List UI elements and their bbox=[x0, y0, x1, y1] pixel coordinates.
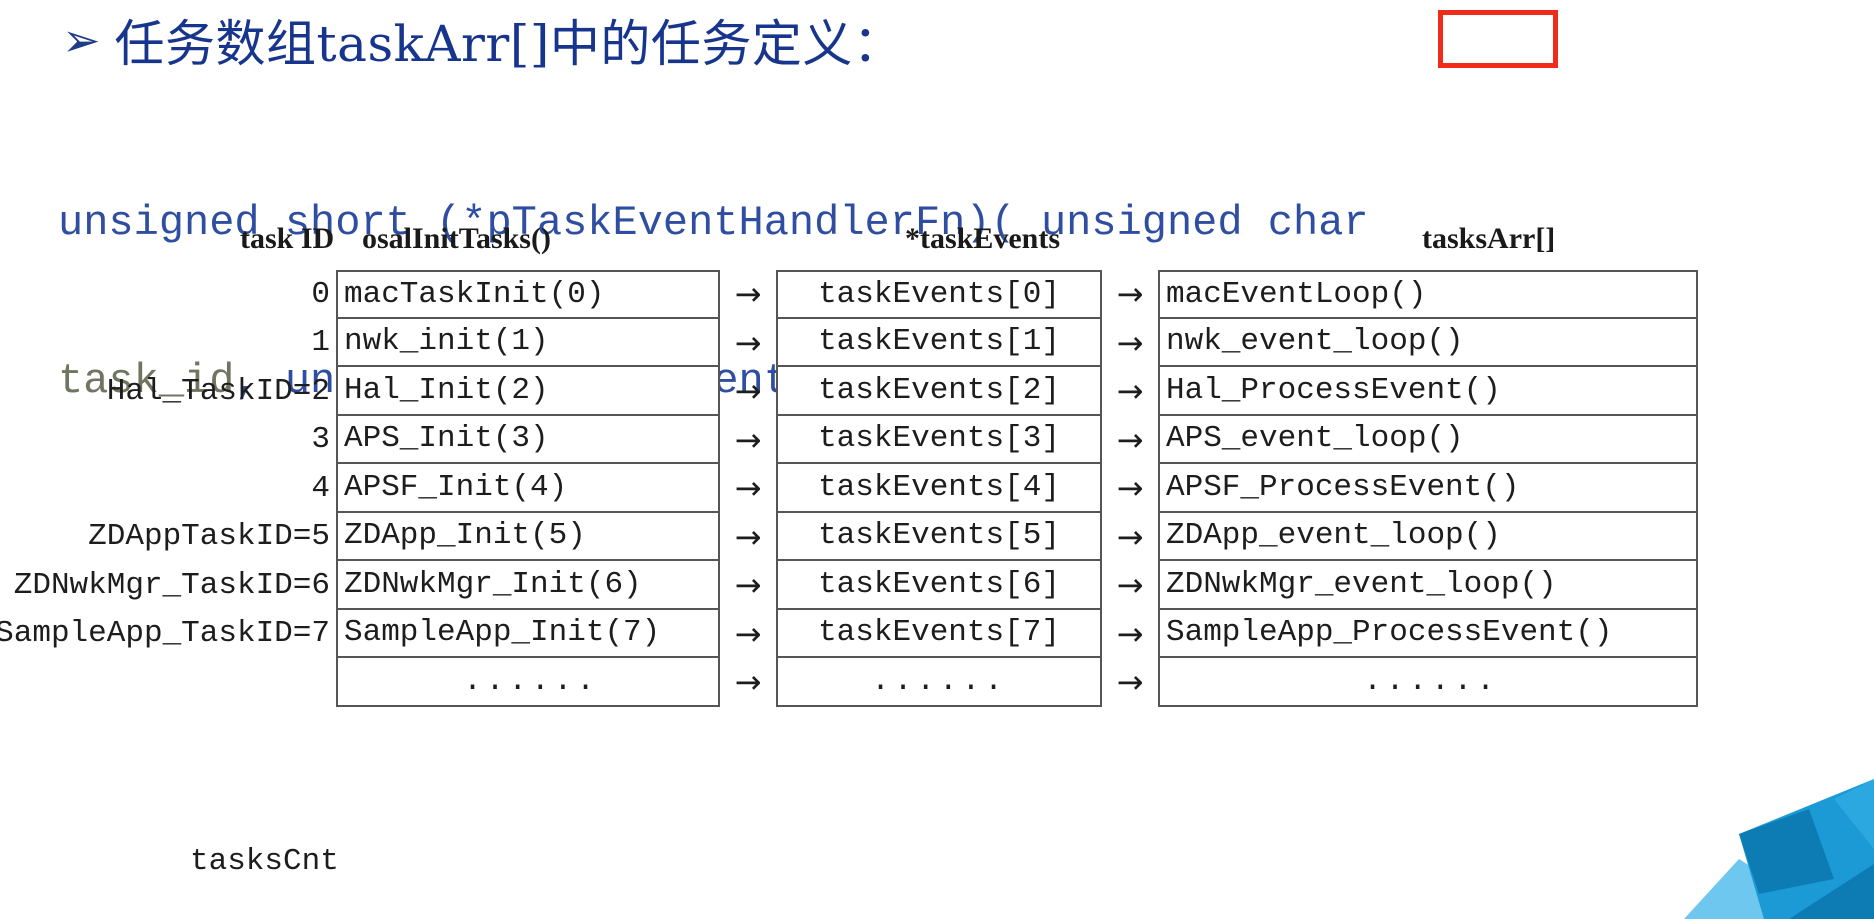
handler-function-cell: ZDApp_event_loop() bbox=[1158, 513, 1698, 562]
decor-shape-5 bbox=[1789, 864, 1874, 919]
arrow-icon: → bbox=[720, 513, 776, 562]
handler-function-text: SampleApp_ProcessEvent() bbox=[1166, 615, 1612, 650]
init-function-text: Hal_Init(2) bbox=[344, 373, 549, 408]
task-events-text: taskEvents[2] bbox=[818, 373, 1060, 408]
task-events-text: taskEvents[7] bbox=[818, 615, 1060, 650]
arrow-icon: → bbox=[1102, 658, 1158, 707]
init-function-text: APS_Init(3) bbox=[344, 421, 549, 456]
handler-function-text: Hal_ProcessEvent() bbox=[1166, 373, 1501, 408]
arrow-icon: → bbox=[1102, 464, 1158, 513]
handler-function-cell: ZDNwkMgr_event_loop() bbox=[1158, 561, 1698, 610]
init-function-text: ...... bbox=[344, 664, 718, 699]
arrow-icon: → bbox=[1102, 610, 1158, 659]
header-task-events: *taskEvents bbox=[905, 222, 1060, 256]
arrow-icon: → bbox=[720, 464, 776, 513]
init-function-cell: ZDNwkMgr_Init(6) bbox=[336, 561, 720, 610]
init-function-cell: APS_Init(3) bbox=[336, 416, 720, 465]
task-events-cell: taskEvents[4] bbox=[776, 464, 1102, 513]
table-row: ......→......→...... bbox=[0, 658, 1874, 707]
init-function-text: SampleApp_Init(7) bbox=[344, 615, 660, 650]
task-events-text: taskEvents[3] bbox=[818, 421, 1060, 456]
task-id-label: ZDAppTaskID=5 bbox=[0, 513, 336, 562]
handler-function-cell: macEventLoop() bbox=[1158, 270, 1698, 319]
header-task-id: task ID bbox=[240, 222, 334, 256]
init-function-cell: ...... bbox=[336, 658, 720, 707]
arrow-icon: → bbox=[720, 610, 776, 659]
handler-function-text: ZDNwkMgr_event_loop() bbox=[1166, 567, 1557, 602]
table-row: 3APS_Init(3)→taskEvents[3]→APS_event_loo… bbox=[0, 416, 1874, 465]
arrow-icon: → bbox=[1102, 319, 1158, 368]
handler-function-cell: nwk_event_loop() bbox=[1158, 319, 1698, 368]
arrow-icon: → bbox=[720, 367, 776, 416]
task-events-cell: taskEvents[7] bbox=[776, 610, 1102, 659]
handler-function-text: APS_event_loop() bbox=[1166, 421, 1464, 456]
init-function-cell: Hal_Init(2) bbox=[336, 367, 720, 416]
table-row: SampleApp_TaskID=7SampleApp_Init(7)→task… bbox=[0, 610, 1874, 659]
task-id-label: 3 bbox=[0, 416, 336, 465]
task-events-text: taskEvents[6] bbox=[818, 567, 1060, 602]
handler-function-text: macEventLoop() bbox=[1166, 277, 1426, 312]
task-events-cell: taskEvents[2] bbox=[776, 367, 1102, 416]
init-function-text: ZDNwkMgr_Init(6) bbox=[344, 567, 642, 602]
init-function-cell: nwk_init(1) bbox=[336, 319, 720, 368]
task-events-cell: taskEvents[3] bbox=[776, 416, 1102, 465]
init-function-cell: APSF_Init(4) bbox=[336, 464, 720, 513]
page-title: 任务数组taskArr[]中的任务定义： bbox=[115, 4, 904, 76]
decor-shape-1 bbox=[1684, 859, 1834, 919]
table-row: Hal_TaskID=2Hal_Init(2)→taskEvents[2]→Ha… bbox=[0, 367, 1874, 416]
init-function-cell: macTaskInit(0) bbox=[336, 270, 720, 319]
task-rows: 0macTaskInit(0)→taskEvents[0]→macEventLo… bbox=[0, 270, 1874, 707]
task-id-label: 1 bbox=[0, 319, 336, 368]
task-id-label bbox=[0, 658, 336, 707]
task-events-cell: taskEvents[0] bbox=[776, 270, 1102, 319]
init-function-text: ZDApp_Init(5) bbox=[344, 518, 586, 553]
arrow-icon: → bbox=[1102, 513, 1158, 562]
task-events-text: taskEvents[5] bbox=[818, 518, 1060, 553]
decor-shape-2 bbox=[1739, 779, 1874, 919]
task-events-text: taskEvents[1] bbox=[818, 324, 1060, 359]
column-headers: task ID osalInitTasks() *taskEvents task… bbox=[0, 222, 1874, 268]
arrow-icon: → bbox=[720, 658, 776, 707]
handler-function-text: ...... bbox=[1166, 664, 1696, 699]
arrow-icon: → bbox=[720, 416, 776, 465]
handler-function-text: ZDApp_event_loop() bbox=[1166, 518, 1501, 553]
arrow-icon: → bbox=[720, 270, 776, 319]
task-events-cell: taskEvents[6] bbox=[776, 561, 1102, 610]
task-events-cell: taskEvents[5] bbox=[776, 513, 1102, 562]
decor-shape-4 bbox=[1834, 779, 1874, 849]
handler-function-cell: Hal_ProcessEvent() bbox=[1158, 367, 1698, 416]
arrow-icon: → bbox=[1102, 416, 1158, 465]
init-function-text: APSF_Init(4) bbox=[344, 470, 567, 505]
task-table-diagram: task ID osalInitTasks() *taskEvents task… bbox=[0, 222, 1874, 707]
handler-function-text: nwk_event_loop() bbox=[1166, 324, 1464, 359]
init-function-text: nwk_init(1) bbox=[344, 324, 549, 359]
task-events-cell: ...... bbox=[776, 658, 1102, 707]
tasks-cnt-label: tasksCnt bbox=[190, 844, 339, 879]
table-row: ZDAppTaskID=5ZDApp_Init(5)→taskEvents[5]… bbox=[0, 513, 1874, 562]
table-row: 4APSF_Init(4)→taskEvents[4]→APSF_Process… bbox=[0, 464, 1874, 513]
arrow-icon: → bbox=[1102, 367, 1158, 416]
handler-function-cell: SampleApp_ProcessEvent() bbox=[1158, 610, 1698, 659]
arrow-icon: → bbox=[720, 561, 776, 610]
task-events-text: taskEvents[4] bbox=[818, 470, 1060, 505]
table-row: 0macTaskInit(0)→taskEvents[0]→macEventLo… bbox=[0, 270, 1874, 319]
task-id-label: Hal_TaskID=2 bbox=[0, 367, 336, 416]
task-events-text: taskEvents[0] bbox=[818, 277, 1060, 312]
handler-function-cell: APSF_ProcessEvent() bbox=[1158, 464, 1698, 513]
red-highlight-box bbox=[1438, 10, 1558, 68]
arrow-icon: → bbox=[1102, 270, 1158, 319]
handler-function-cell: APS_event_loop() bbox=[1158, 416, 1698, 465]
task-id-label: 0 bbox=[0, 270, 336, 319]
table-row: ZDNwkMgr_TaskID=6ZDNwkMgr_Init(6)→taskEv… bbox=[0, 561, 1874, 610]
bullet-arrow-icon: ➢ bbox=[62, 17, 101, 63]
arrow-icon: → bbox=[1102, 561, 1158, 610]
init-function-cell: ZDApp_Init(5) bbox=[336, 513, 720, 562]
handler-function-text: APSF_ProcessEvent() bbox=[1166, 470, 1519, 505]
init-function-text: macTaskInit(0) bbox=[344, 277, 604, 312]
arrow-icon: → bbox=[720, 319, 776, 368]
task-id-label: 4 bbox=[0, 464, 336, 513]
task-id-label: ZDNwkMgr_TaskID=6 bbox=[0, 561, 336, 610]
task-events-cell: taskEvents[1] bbox=[776, 319, 1102, 368]
init-function-cell: SampleApp_Init(7) bbox=[336, 610, 720, 659]
header-osal-init-tasks: osalInitTasks() bbox=[362, 222, 551, 256]
decor-shape-3 bbox=[1739, 809, 1834, 894]
header-tasks-arr: tasksArr[] bbox=[1422, 222, 1555, 256]
table-row: 1nwk_init(1)→taskEvents[1]→nwk_event_loo… bbox=[0, 319, 1874, 368]
handler-function-cell: ...... bbox=[1158, 658, 1698, 707]
slide-title-row: ➢ 任务数组taskArr[]中的任务定义： bbox=[62, 2, 903, 78]
task-events-text: ...... bbox=[778, 664, 1100, 699]
task-id-label: SampleApp_TaskID=7 bbox=[0, 610, 336, 659]
